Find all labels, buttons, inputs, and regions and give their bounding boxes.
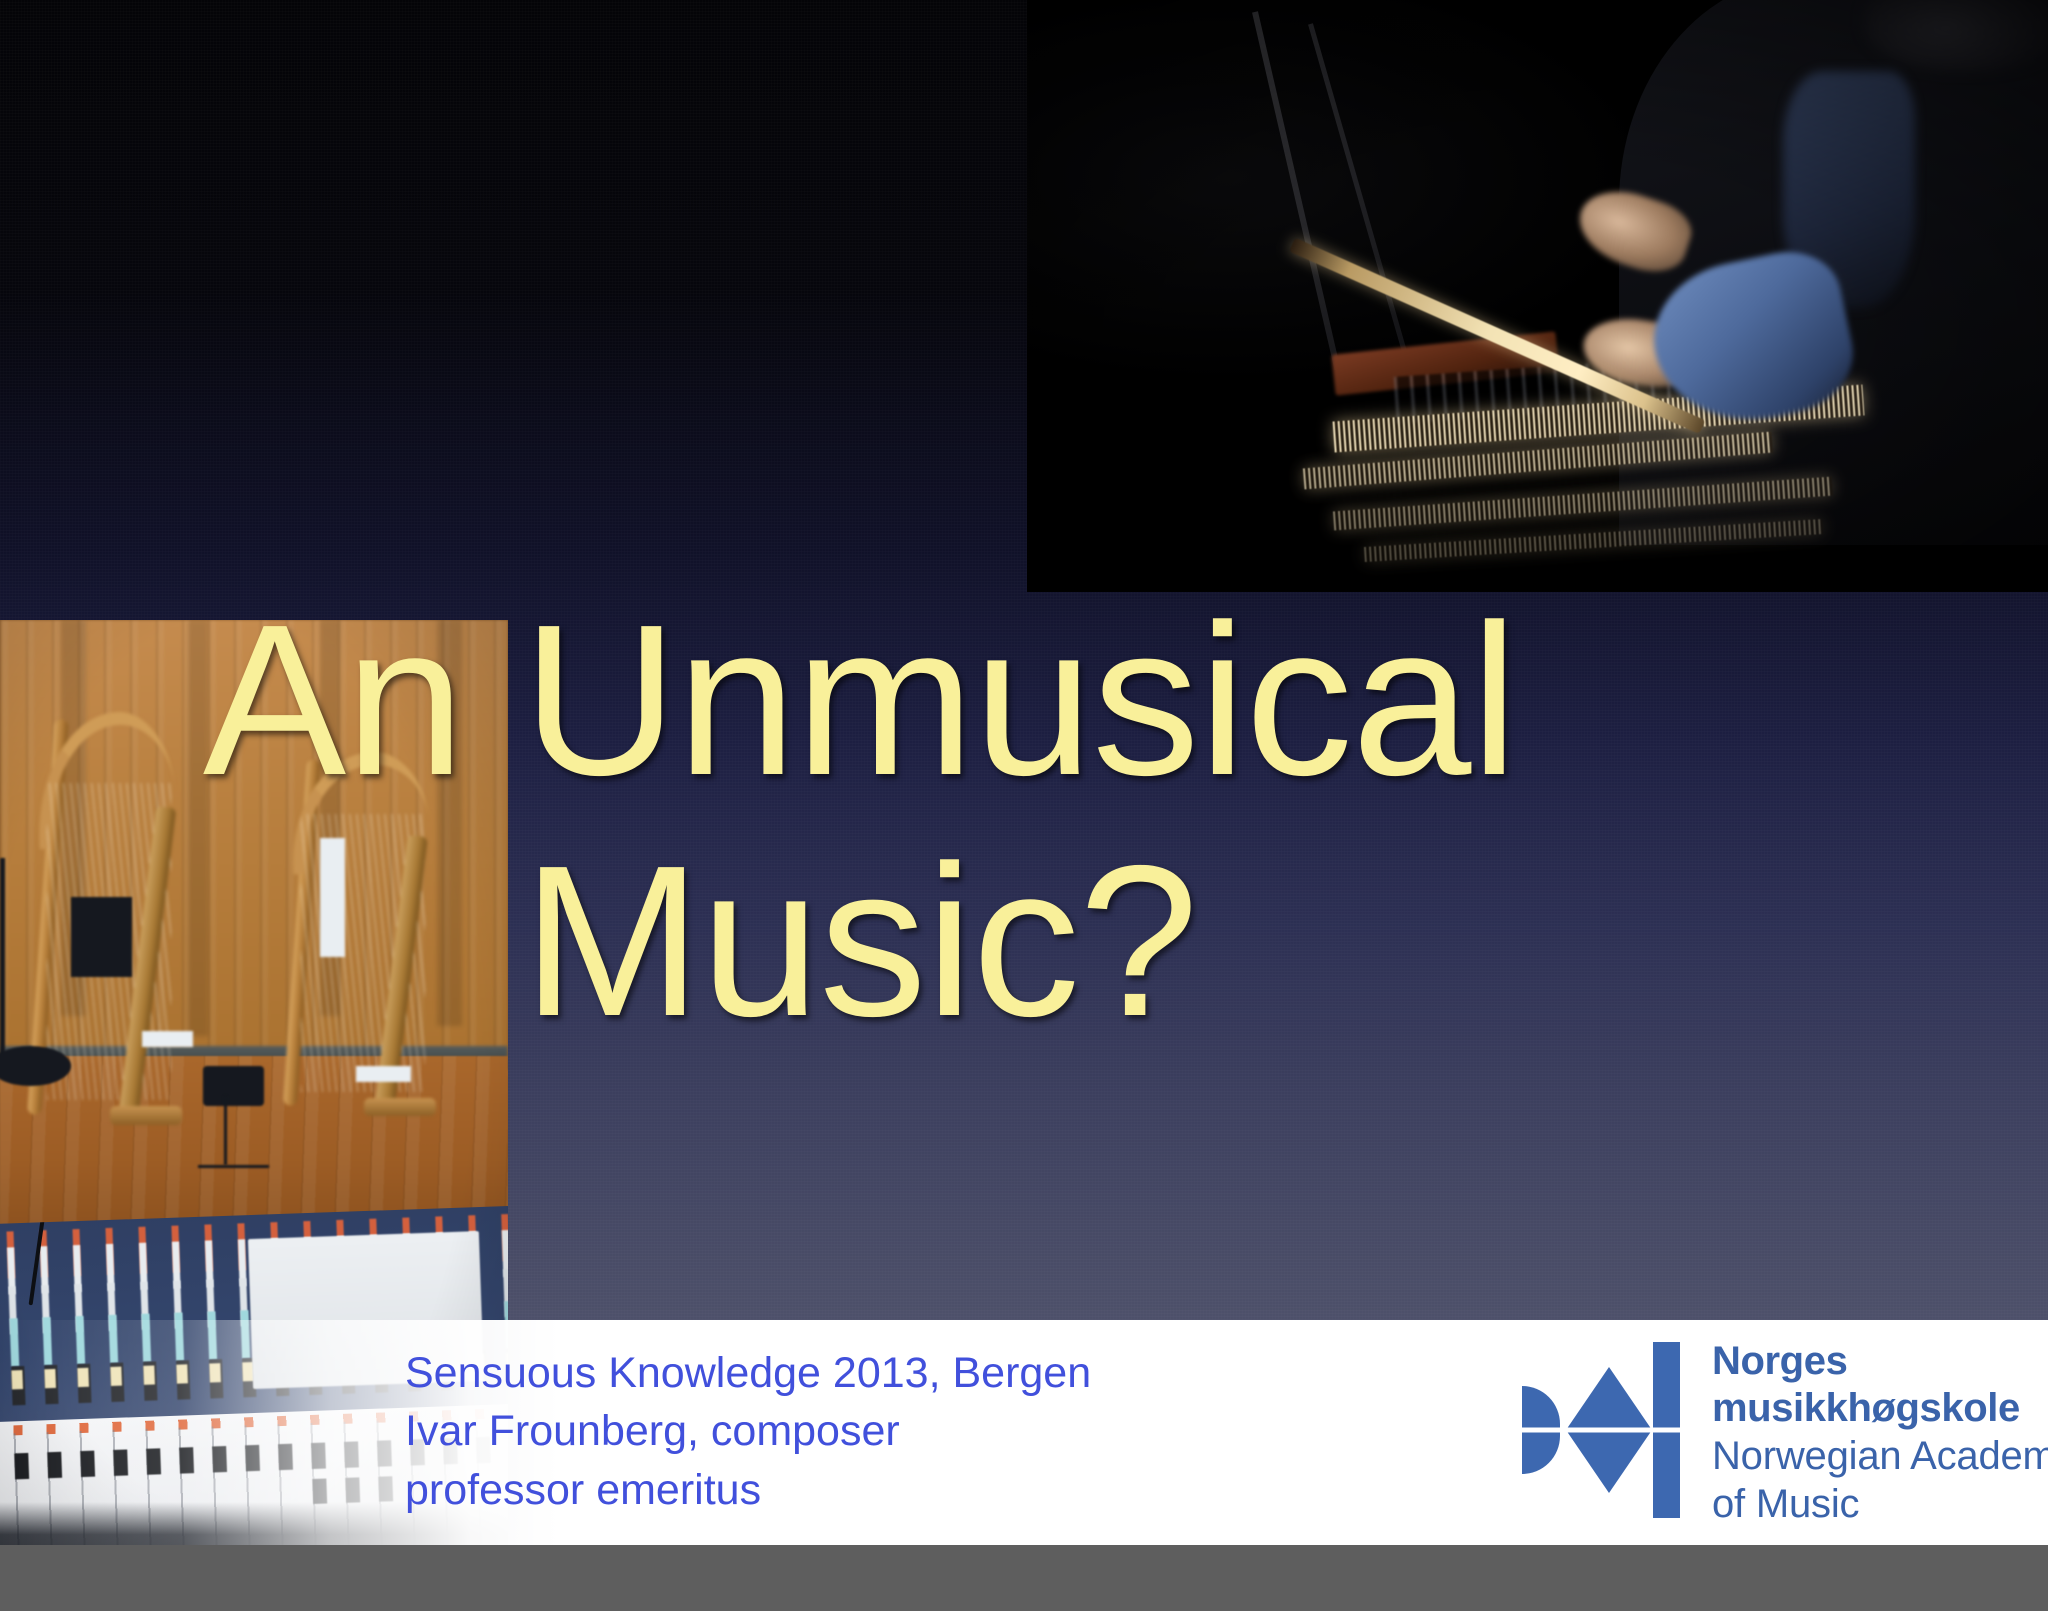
slide-title: An Unmusical Music?: [0, 580, 1720, 1062]
footer-panel: Sensuous Knowledge 2013, Bergen Ivar Fro…: [0, 1320, 2048, 1545]
slide-subtitle: Sensuous Knowledge 2013, Bergen Ivar Fro…: [405, 1344, 1091, 1519]
title-line-2: Music?: [0, 821, 1720, 1062]
nmh-logo-mark-icon: [1522, 1342, 1680, 1518]
subtitle-line-role: professor emeritus: [405, 1461, 1091, 1519]
logo-bar-bottom-shape: [1653, 1430, 1680, 1518]
subtitle-line-author: Ivar Frounberg, composer: [405, 1402, 1091, 1460]
logo-norwegian-line-2: musikkhøgskole: [1712, 1385, 2048, 1432]
logo-english-line-2: of Music: [1712, 1480, 2048, 1528]
logo-english-line-1: Norwegian Academy: [1712, 1432, 2048, 1480]
piano-photo-vignette: [1027, 0, 2048, 592]
bottom-gray-bar: [0, 1545, 2048, 1611]
logo-bar-top-shape: [1653, 1342, 1680, 1430]
presentation-slide: An Unmusical Music? Sensuous Knowledge 2…: [0, 0, 2048, 1611]
title-line-1: An Unmusical: [0, 580, 1720, 821]
logo-horizontal-gap: [1522, 1428, 1680, 1433]
logo-triangle-down-shape: [1566, 1430, 1652, 1493]
nmh-logo: Norges musikkhøgskole Norwegian Academy …: [1522, 1334, 2042, 1534]
logo-halfcircle-bottom-shape: [1522, 1430, 1560, 1474]
logo-triangle-up-shape: [1566, 1367, 1652, 1430]
logo-norwegian-line-1: Norges: [1712, 1338, 2048, 1385]
photo-piano-performer: [1027, 0, 2048, 592]
nmh-logo-wordmark: Norges musikkhøgskole Norwegian Academy …: [1712, 1338, 2048, 1528]
logo-halfcircle-top-shape: [1522, 1386, 1560, 1430]
subtitle-line-event: Sensuous Knowledge 2013, Bergen: [405, 1344, 1091, 1402]
